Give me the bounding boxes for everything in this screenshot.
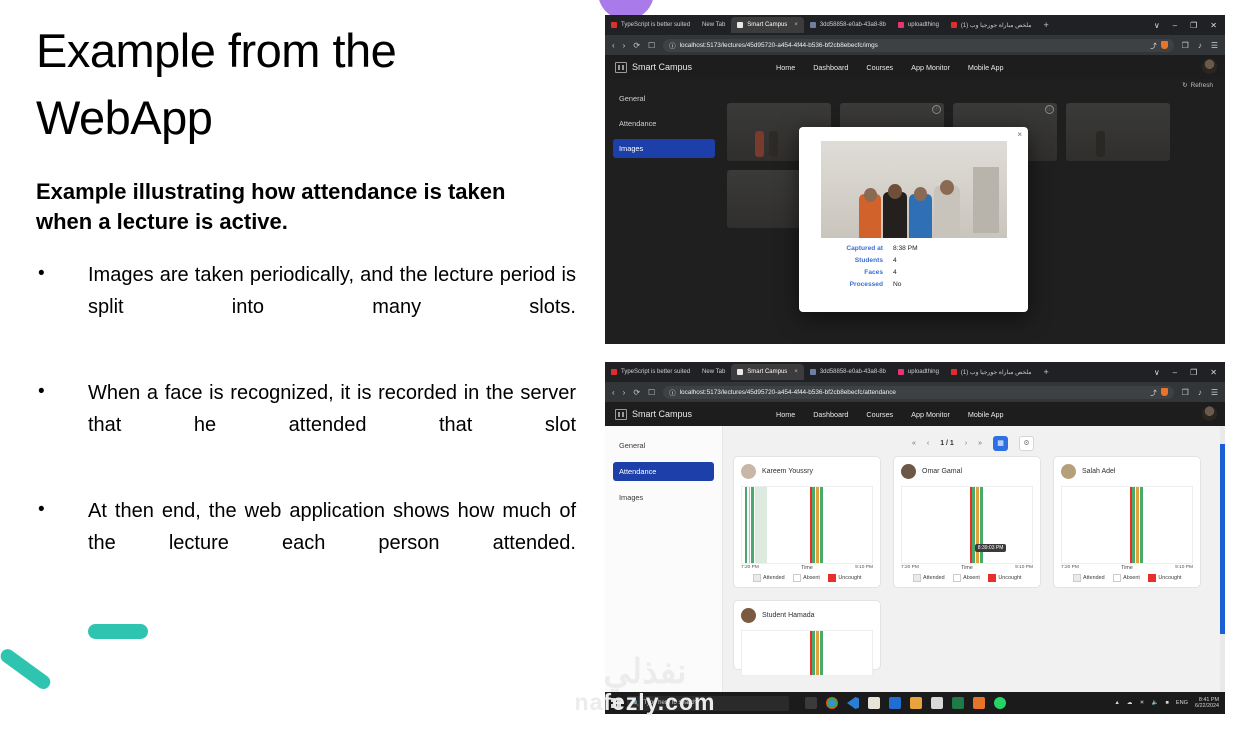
browser-tab[interactable]: uploadthing [892,364,945,380]
card-header: Student Hamada [741,608,873,623]
legend-swatch [753,574,761,582]
attendance-card[interactable]: Omar Gamal 8:39:03 PM 7:20 PM 9:10 PM Ti… [893,456,1041,588]
tab-label: TypeScript is better suited [621,369,690,375]
legend-swatch [988,574,996,582]
legend-swatch [913,574,921,582]
avatar [901,464,916,479]
sidebar: General Attendance Images [605,426,723,710]
window-controls: ∨ – ❐ ✕ [1154,21,1225,30]
slide-subtitle: Example illustrating how attendance is t… [36,177,546,237]
minimize-button[interactable]: – [1173,368,1177,377]
attendance-page-body: General Attendance Images « ‹ 1 / 1 › » … [605,426,1225,710]
menu-icon[interactable]: ☰ [1211,41,1218,50]
image-detail-modal: × 2024-06-23 01:38:23 Captured at 8:38 P… [799,127,1028,312]
bullet-marker: • [36,377,88,473]
tab-label: (1) ملخص مباراة جورجيا وب [961,22,1032,29]
menu-icon[interactable]: ☰ [1211,388,1218,397]
detail-label: Faces [809,269,893,276]
network-icon[interactable]: ☀ [1140,700,1145,706]
detail-value: No [893,281,901,288]
bullet-text: Images are taken periodically, and the l… [88,259,576,355]
teal-stroke-decoration-2 [0,646,53,691]
legend-item-attended: Attended [1073,574,1105,582]
tab-label: uploadthing [908,22,939,28]
search-icon: 🔍 [632,700,639,707]
browser-tab[interactable]: uploadthing [892,17,945,33]
app-brand[interactable]: Smart Campus [615,62,692,73]
maximize-button[interactable]: ❐ [1190,21,1197,30]
bullet-marker: • [36,495,88,591]
tab-label: 3dd58858-e0ab-43a8-8b [820,369,886,375]
youtube-icon [611,369,617,375]
student-name: Salah Adel [1082,468,1115,475]
uploadthing-icon [898,369,904,375]
legend-item-attended: Attended [913,574,945,582]
globe-icon [810,369,816,375]
window-controls: ∨ – ❐ ✕ [1154,368,1225,377]
detail-value: 4 [893,269,897,276]
legend-label: Uncought [998,575,1021,581]
slide-text-column: Example from the WebApp Example illustra… [36,18,576,613]
app-nav: Home Dashboard Courses App Monitor Mobil… [776,410,1003,419]
terminal-icon[interactable] [952,697,964,709]
next-page-button[interactable]: › [965,440,967,447]
app-header: Smart Campus Home Dashboard Courses App … [605,55,1225,79]
app-nav: Home Dashboard Courses App Monitor Mobil… [776,63,1003,72]
browser-window-images: TypeScript is better suited New Tab Smar… [605,15,1225,344]
last-page-button[interactable]: » [978,440,982,447]
new-tab-button[interactable]: + [1038,367,1055,377]
photo-timestamp: 2024-06-23 01:38:23 [951,143,1004,148]
image-thumbnail[interactable] [1066,103,1170,161]
close-icon[interactable]: × [794,22,798,28]
whatsapp-icon[interactable] [994,697,1006,709]
legend-label: Absent [803,575,820,581]
back-button[interactable]: ‹ [612,41,615,50]
tab-label: New Tab [702,22,725,28]
sidebar-item-general[interactable]: General [613,89,715,108]
page-position: 1 / 1 [940,440,954,447]
chevron-up-icon[interactable]: ▲ [1114,700,1120,706]
nav-item-home[interactable]: Home [776,410,795,419]
sidebar-item-images[interactable]: Images [613,488,714,507]
browser-tabstrip: TypeScript is better suited New Tab Smar… [605,15,1225,35]
first-page-button[interactable]: « [912,440,916,447]
url-text: localhost:5173/lectures/45d95720-a454-4f… [680,42,878,49]
youtube-icon [951,369,957,375]
split-view-icon[interactable]: ☐ [648,41,655,50]
browser-tab[interactable]: TypeScript is better suited [605,364,696,380]
browser-tab[interactable]: New Tab [696,364,731,380]
page-title: Example from the WebApp [36,18,576,151]
card-header: Omar Gamal [901,464,1033,479]
chrome-icon[interactable] [826,697,838,709]
windows-icon[interactable] [611,698,621,708]
legend-item-absent: Absent [1113,574,1140,582]
app-brand[interactable]: Smart Campus [615,409,692,420]
attendance-content: « ‹ 1 / 1 › » ▦ ⚙ Kareem Youssry [723,426,1225,710]
site-info-icon[interactable]: ⓘ [669,388,675,397]
url-text: localhost:5173/lectures/45d95720-a454-4f… [680,389,896,396]
bullet-marker: • [36,259,88,355]
gear-icon[interactable]: ⚙ [1019,436,1034,451]
tab-list-icon[interactable]: ∨ [1154,21,1160,30]
avatar [741,608,756,623]
cast-icon[interactable]: ❐ [1182,388,1189,397]
student-name: Omar Gamal [922,468,962,475]
brave-icon[interactable] [973,697,985,709]
campus-icon [615,62,627,73]
info-icon: ⓘ [932,105,941,114]
refresh-label: Refresh [1191,82,1213,89]
legend-swatch [1073,574,1081,582]
minimize-button[interactable]: – [1173,21,1177,30]
system-tray: ▲ ☁ ☀ 🔈 ■ ENG 8:41 PM 6/22/2024 [1114,697,1219,709]
legend-label: Attended [1083,575,1105,581]
browser-urlbar: ‹ › ⟳ ☐ ⓘ localhost:5173/lectures/45d957… [605,35,1225,55]
card-header: Kareem Youssry [741,464,873,479]
list-item: • Images are taken periodically, and the… [36,259,576,355]
list-item: • At then end, the web application shows… [36,495,576,591]
attendance-card[interactable]: Student Hamada [733,600,881,670]
legend-label: Uncought [1158,575,1181,581]
detail-row: Faces 4 [809,269,1018,276]
axis-start-label: 7:20 PM [1061,565,1079,570]
legend-swatch [1148,574,1156,582]
browser-tab[interactable]: (1) ملخص مباراة جورجيا وب [945,17,1038,33]
axis-title: Time [901,565,1033,571]
legend-item-absent: Absent [793,574,820,582]
sidebar-item-images[interactable]: Images [613,139,715,158]
forward-button[interactable]: › [623,388,626,397]
avatar [741,464,756,479]
attendance-card-grid: Kareem Youssry 7:20 PM 9:10 [733,456,1213,670]
nav-item-dashboard[interactable]: Dashboard [813,63,848,72]
attendance-timeline-chart [741,486,873,564]
app-icon[interactable] [931,697,943,709]
bullet-list: • Images are taken periodically, and the… [36,259,576,591]
captured-photo: 2024-06-23 01:38:23 [821,141,1007,238]
prev-page-button[interactable]: ‹ [927,440,929,447]
shield-icon[interactable] [1161,388,1168,396]
detail-row: Processed No [809,281,1018,288]
campus-icon [615,409,627,420]
youtube-icon [951,22,957,28]
avatar[interactable] [1202,59,1217,74]
windows-taskbar: 🔍 Type here to search ▲ ☁ ☀ 🔈 ■ ENG 8:41… [605,692,1225,714]
legend-swatch [828,574,836,582]
image-detail-rows: Captured at 8:38 PM Students 4 Faces 4 P… [809,245,1018,288]
student-name: Student Hamada [762,612,815,619]
uploadthing-icon [898,22,904,28]
clock-date: 6/22/2024 [1195,703,1219,709]
legend-item-attended: Attended [753,574,785,582]
app-header: Smart Campus Home Dashboard Courses App … [605,402,1225,426]
volume-icon[interactable]: 🔈 [1152,700,1159,706]
detail-label: Students [809,257,893,264]
forward-button[interactable]: › [623,41,626,50]
tab-label: TypeScript is better suited [621,22,690,28]
browser-toolbar-right: ❐ ♪ ☰ [1182,41,1218,50]
vscode-icon[interactable] [847,697,859,709]
legend-swatch [953,574,961,582]
axis-end-label: 9:10 PM [855,565,873,570]
share-icon[interactable]: ⤴ [1150,41,1156,50]
nav-item-courses[interactable]: Courses [866,410,893,419]
tab-label: Smart Campus [747,22,787,28]
nav-item-mobile-app[interactable]: Mobile App [968,63,1004,72]
back-button[interactable]: ‹ [612,388,615,397]
close-icon[interactable]: × [794,369,798,375]
card-header: Salah Adel [1061,464,1193,479]
battery-icon[interactable]: ■ [1166,700,1169,706]
detail-row: Students 4 [809,257,1018,264]
legend-label: Uncought [838,575,861,581]
share-icon[interactable]: ⤴ [1150,388,1156,397]
split-view-icon[interactable]: ☐ [648,388,655,397]
detail-value: 8:38 PM [893,245,918,252]
new-tab-button[interactable]: + [1038,20,1055,30]
page-icon [737,369,743,375]
legend-item-uncought: Uncought [1148,574,1182,582]
clock[interactable]: 8:41 PM 6/22/2024 [1195,697,1219,709]
maximize-button[interactable]: ❐ [1190,368,1197,377]
music-icon[interactable]: ♪ [1198,388,1202,397]
axis-start-label: 7:20 PM [741,565,759,570]
info-icon: ⓘ [1045,105,1054,114]
browser-tab[interactable]: (1) ملخص مباراة جورجيا وب [945,364,1038,380]
nav-item-app-monitor[interactable]: App Monitor [911,63,950,72]
avatar [1061,464,1076,479]
notepad-icon[interactable] [868,697,880,709]
browser-tab-active[interactable]: Smart Campus × [731,17,804,33]
tab-label: Smart Campus [747,369,787,375]
legend-item-absent: Absent [953,574,980,582]
close-button[interactable]: ✕ [1210,368,1217,377]
detail-value: 4 [893,257,897,264]
chart-tooltip: 8:39:03 PM [975,544,1007,552]
tab-label: 3dd58858-e0ab-43a8-8b [820,22,886,28]
close-icon[interactable]: × [1017,130,1022,139]
sidebar-item-attendance[interactable]: Attendance [613,114,715,133]
reload-button[interactable]: ⟳ [633,388,640,397]
legend-label: Attended [923,575,945,581]
attendance-card[interactable]: Kareem Youssry 7:20 PM 9:10 [733,456,881,588]
nav-item-mobile-app[interactable]: Mobile App [968,410,1004,419]
tab-list-icon[interactable]: ∨ [1154,368,1160,377]
legend-label: Absent [1123,575,1140,581]
axis-end-label: 9:10 PM [1015,565,1033,570]
browser-tab-active[interactable]: Smart Campus × [731,364,804,380]
tab-label: (1) ملخص مباراة جورجيا وب [961,369,1032,376]
tab-label: New Tab [702,369,725,375]
search-input[interactable]: 🔍 Type here to search [627,696,789,711]
bullet-text: When a face is recognized, it is recorde… [88,377,576,473]
reload-button[interactable]: ⟳ [633,41,640,50]
axis-end-label: 9:10 PM [1175,565,1193,570]
nav-item-dashboard[interactable]: Dashboard [813,410,848,419]
task-view-icon[interactable] [805,697,817,709]
explorer-icon[interactable] [910,697,922,709]
detail-label: Processed [809,281,893,288]
globe-icon [810,22,816,28]
close-button[interactable]: ✕ [1210,21,1217,30]
avatar[interactable] [1202,406,1217,421]
axis-title: Time [1061,565,1193,571]
chart-legend: Attended Absent Uncought [741,574,873,582]
attendance-timeline-chart: 8:39:03 PM [901,486,1033,564]
teal-stroke-decoration-1 [88,624,148,639]
detail-label: Captured at [809,245,893,252]
address-bar[interactable]: ⓘ localhost:5173/lectures/45d95720-a454-… [663,39,1173,52]
music-icon[interactable]: ♪ [1198,41,1202,50]
list-item: • When a face is recognized, it is recor… [36,377,576,473]
pagination: « ‹ 1 / 1 › » ▦ ⚙ [733,432,1213,454]
student-name: Kareem Youssry [762,468,813,475]
browser-urlbar: ‹ › ⟳ ☐ ⓘ localhost:5173/lectures/45d957… [605,382,1225,402]
refresh-icon: ↻ [1182,81,1187,89]
axis-title: Time [741,565,873,571]
images-page-body: General Attendance Images ↻ Refresh ⓘ [605,79,1225,344]
cast-icon[interactable]: ❐ [1182,41,1189,50]
browser-window-attendance: TypeScript is better suited New Tab Smar… [605,362,1225,714]
browser-tab[interactable]: TypeScript is better suited [605,17,696,33]
scrollbar[interactable] [1220,426,1225,710]
browser-toolbar-right: ❐ ♪ ☰ [1182,388,1218,397]
refresh-button[interactable]: ↻ Refresh [1182,81,1213,89]
browser-tab[interactable]: New Tab [696,17,731,33]
shield-icon[interactable] [1161,41,1168,49]
legend-swatch [1113,574,1121,582]
attendance-card[interactable]: Salah Adel 7:20 PM 9:10 PM Time [1053,456,1201,588]
site-info-icon[interactable]: ⓘ [669,41,675,50]
wall-detail [973,167,999,233]
legend-item-uncought: Uncought [988,574,1022,582]
nav-item-home[interactable]: Home [776,63,795,72]
browser-tab[interactable]: 3dd58858-e0ab-43a8-8b [804,364,892,380]
chart-legend: Attended Absent Uncought [1061,574,1193,582]
taskbar-apps [805,697,1006,709]
browser-tabstrip: TypeScript is better suited New Tab Smar… [605,362,1225,382]
address-bar[interactable]: ⓘ localhost:5173/lectures/45d95720-a454-… [663,386,1173,399]
onedrive-icon[interactable]: ☁ [1127,700,1133,706]
brand-label: Smart Campus [632,409,692,419]
mail-icon[interactable] [889,697,901,709]
legend-swatch [793,574,801,582]
sidebar: General Attendance Images [605,79,723,344]
grid-icon[interactable]: ▦ [993,436,1008,451]
browser-tab[interactable]: 3dd58858-e0ab-43a8-8b [804,17,892,33]
search-placeholder: Type here to search [643,700,696,706]
page-icon [737,22,743,28]
sidebar-item-general[interactable]: General [613,436,714,455]
chart-legend: Attended Absent Uncought [901,574,1033,582]
nav-item-app-monitor[interactable]: App Monitor [911,410,950,419]
attendance-timeline-chart [1061,486,1193,564]
attendance-timeline-chart [741,630,873,676]
tab-label: uploadthing [908,369,939,375]
legend-label: Absent [963,575,980,581]
legend-label: Attended [763,575,785,581]
sidebar-item-attendance[interactable]: Attendance [613,462,714,481]
scrollbar-thumb[interactable] [1220,444,1225,634]
brand-label: Smart Campus [632,62,692,72]
detail-row: Captured at 8:38 PM [809,245,1018,252]
language-indicator[interactable]: ENG [1176,700,1188,706]
legend-item-uncought: Uncought [828,574,862,582]
youtube-icon [611,22,617,28]
nav-item-courses[interactable]: Courses [866,63,893,72]
axis-start-label: 7:20 PM [901,565,919,570]
bullet-text: At then end, the web application shows h… [88,495,576,591]
